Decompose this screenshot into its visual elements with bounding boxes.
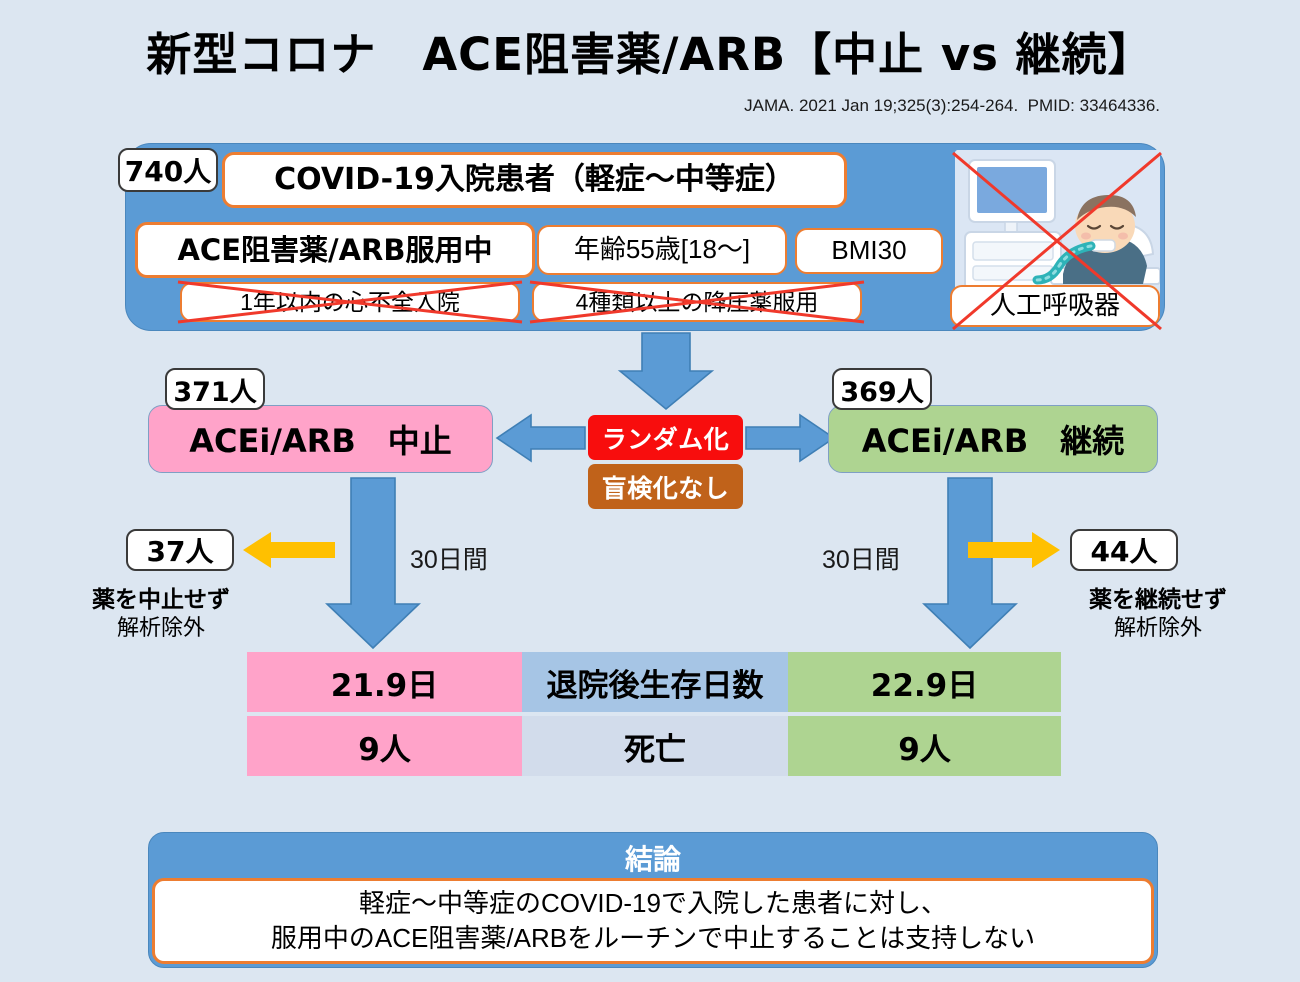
conclusion-body: 軽症～中等症のCOVID-19で入院した患者に対し、 服用中のACE阻害薬/AR… — [152, 878, 1154, 964]
dropout-left-sublabel: 解析除外 — [66, 610, 256, 642]
conclusion-line-2: 服用中のACE阻害薬/ARBをルーチンで中止することは支持しない — [271, 921, 1035, 956]
inclusion-bmi-box: BMI30 — [795, 228, 943, 274]
arrow-right-to-continue-arm-icon — [746, 413, 834, 463]
table-row: 9人 死亡 9人 — [247, 716, 1061, 776]
results-table: 21.9日 退院後生存日数 22.9日 9人 死亡 9人 — [247, 652, 1061, 776]
arm-stop-count-badge: 371人 — [165, 368, 265, 410]
dropout-left-label: 薬を中止せず — [66, 580, 256, 614]
exclusion-ventilator-box: 人工呼吸器 — [950, 285, 1160, 327]
dropout-right-label: 薬を継続せず — [1058, 580, 1258, 614]
conclusion-title: 結論 — [148, 838, 1158, 878]
arrow-down-stop-followup-icon — [323, 478, 423, 650]
arm-stop-box: ACEi/ARB 中止 — [148, 405, 493, 473]
table-row: 21.9日 退院後生存日数 22.9日 — [247, 652, 1061, 712]
inclusion-age-box: 年齢55歳[18～] — [537, 225, 787, 275]
dropout-left-count-badge: 37人 — [126, 529, 234, 571]
result-metric-survival-days: 退院後生存日数 — [522, 652, 788, 712]
dropout-right-count-badge: 44人 — [1070, 529, 1178, 571]
cohort-count-badge: 740人 — [118, 148, 218, 192]
dropout-right-sublabel: 解析除外 — [1058, 610, 1258, 642]
result-right-survival-days: 22.9日 — [788, 652, 1061, 712]
arrow-left-dropout-icon — [243, 530, 335, 570]
page-title: 新型コロナ ACE阻害薬/ARB【中止 vs 継続】 — [0, 18, 1300, 83]
conclusion-line-1: 軽症～中等症のCOVID-19で入院した患者に対し、 — [359, 886, 947, 921]
randomization-box: ランダム化 — [588, 415, 743, 460]
followup-duration-left: 30日間 — [410, 540, 488, 576]
result-metric-deaths: 死亡 — [522, 716, 788, 776]
followup-duration-right: 30日間 — [822, 540, 900, 576]
inclusion-medication-box: ACE阻害薬/ARB服用中 — [135, 222, 535, 278]
infographic-canvas: 新型コロナ ACE阻害薬/ARB【中止 vs 継続】 JAMA. 2021 Ja… — [0, 0, 1300, 982]
exclusion-antihypertensives-box: 4種類以上の降圧薬服用 — [532, 282, 862, 322]
arm-continue-box: ACEi/ARB 継続 — [828, 405, 1158, 473]
arrow-down-to-randomization-icon — [616, 333, 716, 411]
citation-text: JAMA. 2021 Jan 19;325(3):254-264. PMID: … — [0, 96, 1160, 116]
blinding-box: 盲検化なし — [588, 464, 743, 509]
arm-continue-count-badge: 369人 — [832, 368, 932, 410]
exclusion-heart-failure-box: 1年以内の心不全入院 — [180, 282, 520, 322]
result-left-survival-days: 21.9日 — [247, 652, 522, 712]
arrow-right-dropout-icon — [968, 530, 1060, 570]
arrow-left-to-stop-arm-icon — [497, 413, 585, 463]
cohort-population-box: COVID-19入院患者（軽症～中等症） — [222, 152, 847, 208]
result-left-deaths: 9人 — [247, 716, 522, 776]
result-right-deaths: 9人 — [788, 716, 1061, 776]
